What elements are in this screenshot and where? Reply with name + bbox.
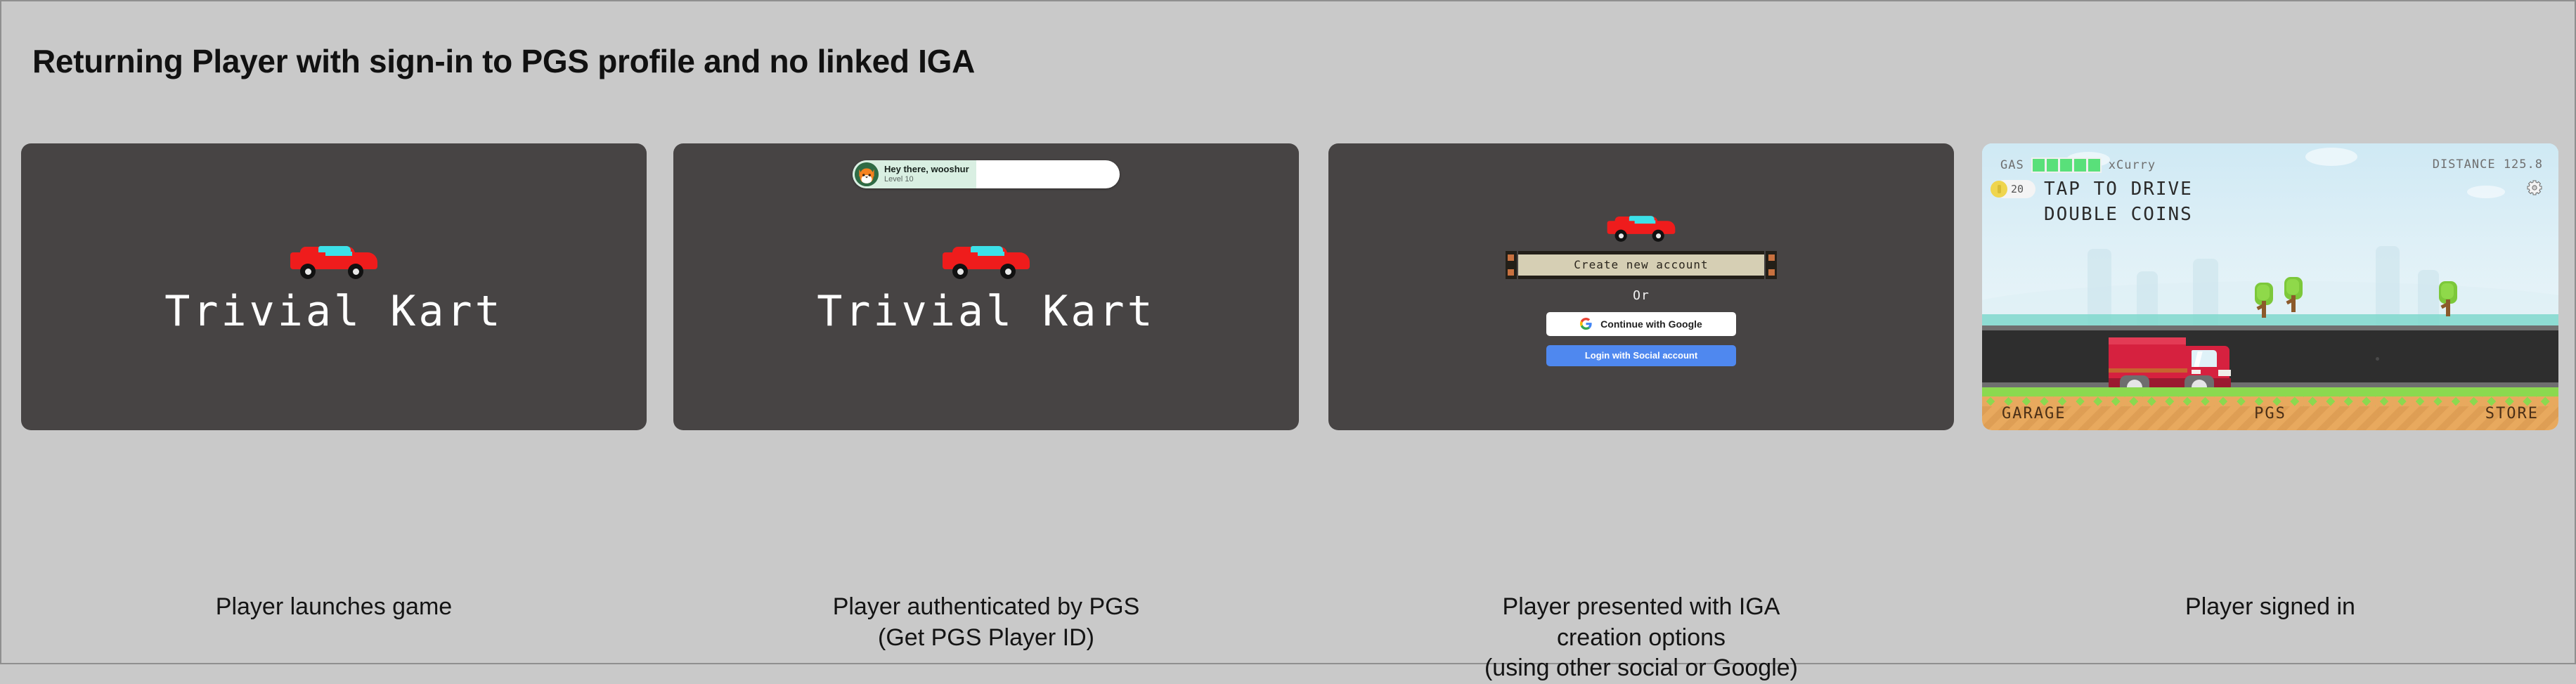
caption-line: (Get PGS Player ID) bbox=[673, 623, 1299, 654]
caption-panel-1: Player launches game bbox=[21, 592, 647, 623]
caption-line: Player signed in bbox=[1982, 592, 2558, 623]
red-kart-icon bbox=[287, 241, 380, 278]
gas-segment bbox=[2074, 159, 2086, 172]
toast-greeting: Hey there, wooshur bbox=[884, 164, 969, 175]
continue-with-google-label: Continue with Google bbox=[1600, 318, 1702, 330]
toast-level: Level 10 bbox=[884, 175, 969, 184]
pgs-welcome-toast[interactable]: Hey there, wooshur Level 10 bbox=[853, 160, 1120, 188]
page-title: Returning Player with sign-in to PGS pro… bbox=[32, 42, 975, 80]
road-edge-bottom bbox=[1982, 382, 2558, 387]
nav-store-button[interactable]: STORE bbox=[2485, 405, 2539, 422]
toast-text: Hey there, wooshur Level 10 bbox=[884, 164, 969, 184]
game-bottom-nav: GARAGE PGS STORE bbox=[1982, 396, 2558, 430]
gas-bar bbox=[2031, 157, 2102, 173]
kart-window bbox=[325, 252, 352, 256]
button-stud bbox=[1768, 269, 1775, 276]
panel-player-signed-in[interactable]: GAS xCurry DISTANCE 125.8 20 TAP TO DRIV… bbox=[1982, 143, 2558, 430]
kart-tire-rear bbox=[1652, 229, 1664, 241]
divider-or-label: Or bbox=[1633, 288, 1650, 303]
tap-to-drive-prompt: TAP TO DRIVE DOUBLE COINS bbox=[2044, 177, 2193, 228]
caption-line: Player authenticated by PGS bbox=[673, 592, 1299, 623]
panel-iga-creation-options[interactable]: Create new account Or Continue with Goog… bbox=[1328, 143, 1954, 430]
cloud-icon bbox=[2467, 186, 2505, 198]
gas-segment bbox=[2060, 159, 2072, 172]
horizon-grass-strip bbox=[1982, 314, 2558, 325]
kart-tire-front bbox=[952, 264, 968, 279]
fox-avatar-icon bbox=[855, 162, 879, 186]
login-with-social-account-label: Login with Social account bbox=[1585, 350, 1697, 361]
road bbox=[1982, 325, 2558, 387]
gas-label: GAS bbox=[2000, 158, 2024, 172]
truck-stripe bbox=[2109, 368, 2187, 373]
gameplay-screen: GAS xCurry DISTANCE 125.8 20 TAP TO DRIV… bbox=[1982, 143, 2558, 430]
caption-panel-2: Player authenticated by PGS (Get PGS Pla… bbox=[673, 592, 1299, 653]
button-stud bbox=[1768, 254, 1775, 261]
kart-tire-front bbox=[300, 264, 316, 279]
nav-pgs-button[interactable]: PGS bbox=[2254, 405, 2286, 422]
coin-counter: 20 bbox=[1995, 180, 2035, 198]
prompt-line-1: TAP TO DRIVE bbox=[2044, 177, 2193, 202]
coin-count: 20 bbox=[2011, 183, 2024, 195]
gas-segment bbox=[2033, 159, 2045, 172]
account-options-screen: Create new account Or Continue with Goog… bbox=[1328, 143, 1954, 430]
game-title: Trivial Kart bbox=[164, 290, 503, 333]
panel-player-launches-game[interactable]: Trivial Kart bbox=[21, 143, 647, 430]
kart-tire-rear bbox=[348, 264, 363, 279]
distance-label: DISTANCE 125.8 bbox=[2433, 157, 2543, 172]
truck-headlight bbox=[2192, 370, 2201, 374]
caption-line: Player launches game bbox=[21, 592, 647, 623]
road-edge-top bbox=[1982, 325, 2558, 330]
red-kart-icon bbox=[940, 241, 1033, 278]
truck-bumper bbox=[2218, 370, 2231, 376]
caption-line: (using other social or Google) bbox=[1328, 653, 1954, 684]
panel-player-authenticated-by-pgs[interactable]: Trivial Kart Hey there, wooshur Level 1 bbox=[673, 143, 1299, 430]
gas-segment bbox=[2047, 159, 2059, 172]
gas-segment bbox=[2088, 159, 2100, 172]
road-marking bbox=[2376, 357, 2379, 361]
splash-screen: Trivial Kart bbox=[21, 143, 647, 430]
button-stud bbox=[1508, 269, 1514, 276]
caption-line: Player presented with IGA bbox=[1328, 592, 1954, 623]
caption-line: creation options bbox=[1328, 623, 1954, 654]
coin-icon bbox=[1991, 181, 2007, 198]
truck-cargo-highlight bbox=[2109, 337, 2186, 344]
create-new-account-button[interactable]: Create new account bbox=[1518, 251, 1764, 279]
kart-window bbox=[978, 252, 1004, 256]
game-title: Trivial Kart bbox=[817, 290, 1155, 333]
kart-window bbox=[1635, 220, 1656, 224]
prompt-line-2: DOUBLE COINS bbox=[2044, 202, 2193, 228]
gear-icon[interactable] bbox=[2526, 180, 2543, 197]
panel-strip: Trivial Kart Trivial Kart bbox=[21, 143, 2558, 430]
continue-with-google-button[interactable]: Continue with Google bbox=[1546, 312, 1736, 336]
nav-garage-button[interactable]: GARAGE bbox=[2002, 405, 2066, 422]
login-with-social-account-button[interactable]: Login with Social account bbox=[1546, 345, 1736, 366]
kart-tire-front bbox=[1615, 229, 1627, 241]
button-stud bbox=[1508, 254, 1514, 261]
google-g-icon bbox=[1580, 318, 1592, 330]
car-name-label: xCurry bbox=[2109, 158, 2156, 172]
gas-gauge: GAS xCurry bbox=[2000, 157, 2156, 173]
caption-panel-3: Player presented with IGA creation optio… bbox=[1328, 592, 1954, 684]
kart-tire-rear bbox=[1000, 264, 1016, 279]
cloud-icon bbox=[2305, 148, 2357, 166]
create-new-account-label: Create new account bbox=[1574, 258, 1708, 271]
red-kart-icon bbox=[1605, 212, 1678, 240]
caption-panel-4: Player signed in bbox=[1982, 592, 2558, 623]
